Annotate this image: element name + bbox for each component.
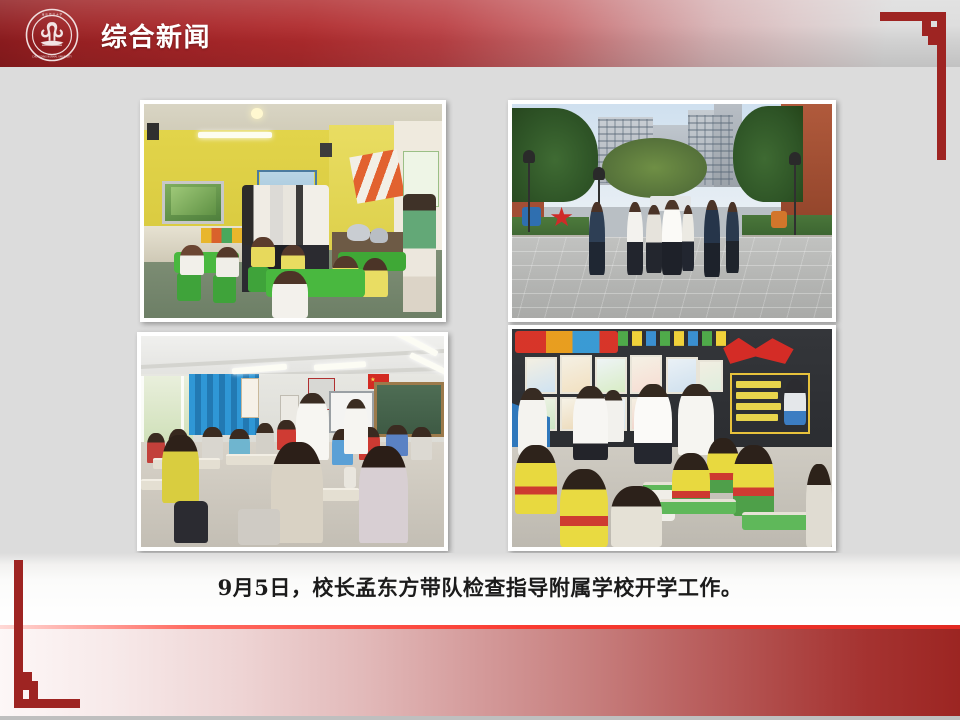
photo-gallery xyxy=(0,67,960,553)
svg-text:重 庆 师 范 大 学: 重 庆 师 范 大 学 xyxy=(42,12,63,16)
decorated-classroom-students-photo[interactable] xyxy=(508,325,836,551)
footer-edge xyxy=(0,716,960,720)
kindergarten-classroom-visit-photo[interactable] xyxy=(140,100,446,322)
page-title: 综合新闻 xyxy=(101,17,211,54)
photo-caption: 9月5日，校长孟东方带队检查指导附属学校开学工作。 xyxy=(0,572,960,602)
primary-classroom-inspection-photo[interactable] xyxy=(137,332,448,551)
photo-canvas xyxy=(141,336,444,547)
university-seal-icon: 重 庆 师 范 大 学 CHONGQING NORMAL UNIVERSITY xyxy=(25,8,79,62)
svg-text:CHONGQING NORMAL UNIVERSITY: CHONGQING NORMAL UNIVERSITY xyxy=(32,56,72,59)
footer-band xyxy=(0,629,960,716)
photo-canvas xyxy=(512,104,832,318)
photo-canvas xyxy=(512,329,832,547)
chinese-corner-ornament-icon xyxy=(0,550,120,720)
page-header: 重 庆 师 范 大 学 CHONGQING NORMAL UNIVERSITY … xyxy=(0,0,960,67)
campus-walkway-inspection-photo[interactable] xyxy=(508,100,836,322)
photo-canvas xyxy=(144,104,442,318)
